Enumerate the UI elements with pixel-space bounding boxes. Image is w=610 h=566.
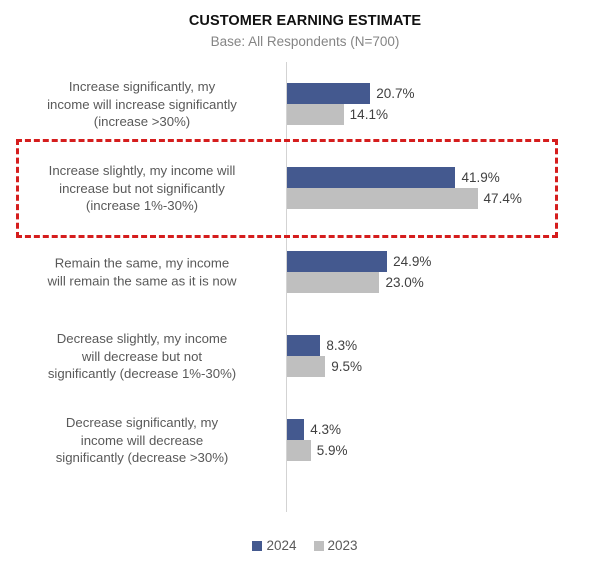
bar-group: 8.3% 9.5%	[287, 335, 607, 377]
chart-row: Decrease significantly, my income will d…	[0, 398, 610, 482]
bar-value-2023: 14.1%	[350, 107, 388, 122]
category-label: Decrease significantly, my income will d…	[8, 414, 276, 467]
category-label: Decrease slightly, my income will decrea…	[8, 330, 276, 383]
bar-2024[interactable]	[287, 83, 370, 104]
bar-group: 41.9% 47.4%	[287, 167, 607, 209]
chart-legend: 2024 2023	[0, 538, 610, 553]
bar-2023[interactable]	[287, 104, 344, 125]
bar-value-2024: 41.9%	[461, 170, 499, 185]
bar-line-2023: 9.5%	[287, 356, 607, 377]
legend-item-2023[interactable]: 2023	[314, 538, 358, 553]
bar-value-2023: 9.5%	[331, 359, 362, 374]
bar-line-2023: 5.9%	[287, 440, 607, 461]
bar-line-2024: 8.3%	[287, 335, 607, 356]
legend-label-2023: 2023	[328, 538, 358, 553]
bar-2024[interactable]	[287, 167, 455, 188]
bar-2024[interactable]	[287, 419, 304, 440]
category-label: Remain the same, my income will remain t…	[8, 255, 276, 290]
chart-row: Increase significantly, my income will i…	[0, 62, 610, 146]
bar-value-2024: 24.9%	[393, 254, 431, 269]
chart-row: Increase slightly, my income will increa…	[0, 146, 610, 230]
category-label: Increase slightly, my income will increa…	[8, 162, 276, 215]
bar-group: 4.3% 5.9%	[287, 419, 607, 461]
chart-row: Decrease slightly, my income will decrea…	[0, 314, 610, 398]
bar-2023[interactable]	[287, 356, 325, 377]
bar-line-2024: 41.9%	[287, 167, 607, 188]
title-block: CUSTOMER EARNING ESTIMATE Base: All Resp…	[0, 12, 610, 51]
bar-value-2023: 47.4%	[484, 191, 522, 206]
chart-row: Remain the same, my income will remain t…	[0, 230, 610, 314]
legend-swatch-2023-icon	[314, 541, 324, 551]
legend-item-2024[interactable]: 2024	[252, 538, 296, 553]
bar-line-2024: 20.7%	[287, 83, 607, 104]
bar-2023[interactable]	[287, 188, 478, 209]
bar-line-2023: 14.1%	[287, 104, 607, 125]
chart-subtitle: Base: All Respondents (N=700)	[0, 33, 610, 51]
bar-group: 20.7% 14.1%	[287, 83, 607, 125]
plot-area: Increase significantly, my income will i…	[0, 62, 610, 514]
bar-2023[interactable]	[287, 272, 379, 293]
legend-label-2024: 2024	[266, 538, 296, 553]
bar-value-2024: 20.7%	[376, 86, 414, 101]
page-title: CUSTOMER EARNING ESTIMATE	[0, 12, 610, 30]
category-label: Increase significantly, my income will i…	[8, 78, 276, 131]
bar-2023[interactable]	[287, 440, 311, 461]
bar-line-2023: 23.0%	[287, 272, 607, 293]
bar-value-2023: 5.9%	[317, 443, 348, 458]
bar-value-2024: 8.3%	[326, 338, 357, 353]
bar-value-2024: 4.3%	[310, 422, 341, 437]
chart-container: CUSTOMER EARNING ESTIMATE Base: All Resp…	[0, 0, 610, 566]
bar-line-2024: 4.3%	[287, 419, 607, 440]
bar-value-2023: 23.0%	[385, 275, 423, 290]
bar-group: 24.9% 23.0%	[287, 251, 607, 293]
bar-line-2023: 47.4%	[287, 188, 607, 209]
bar-2024[interactable]	[287, 335, 320, 356]
legend-swatch-2024-icon	[252, 541, 262, 551]
bar-2024[interactable]	[287, 251, 387, 272]
bar-line-2024: 24.9%	[287, 251, 607, 272]
